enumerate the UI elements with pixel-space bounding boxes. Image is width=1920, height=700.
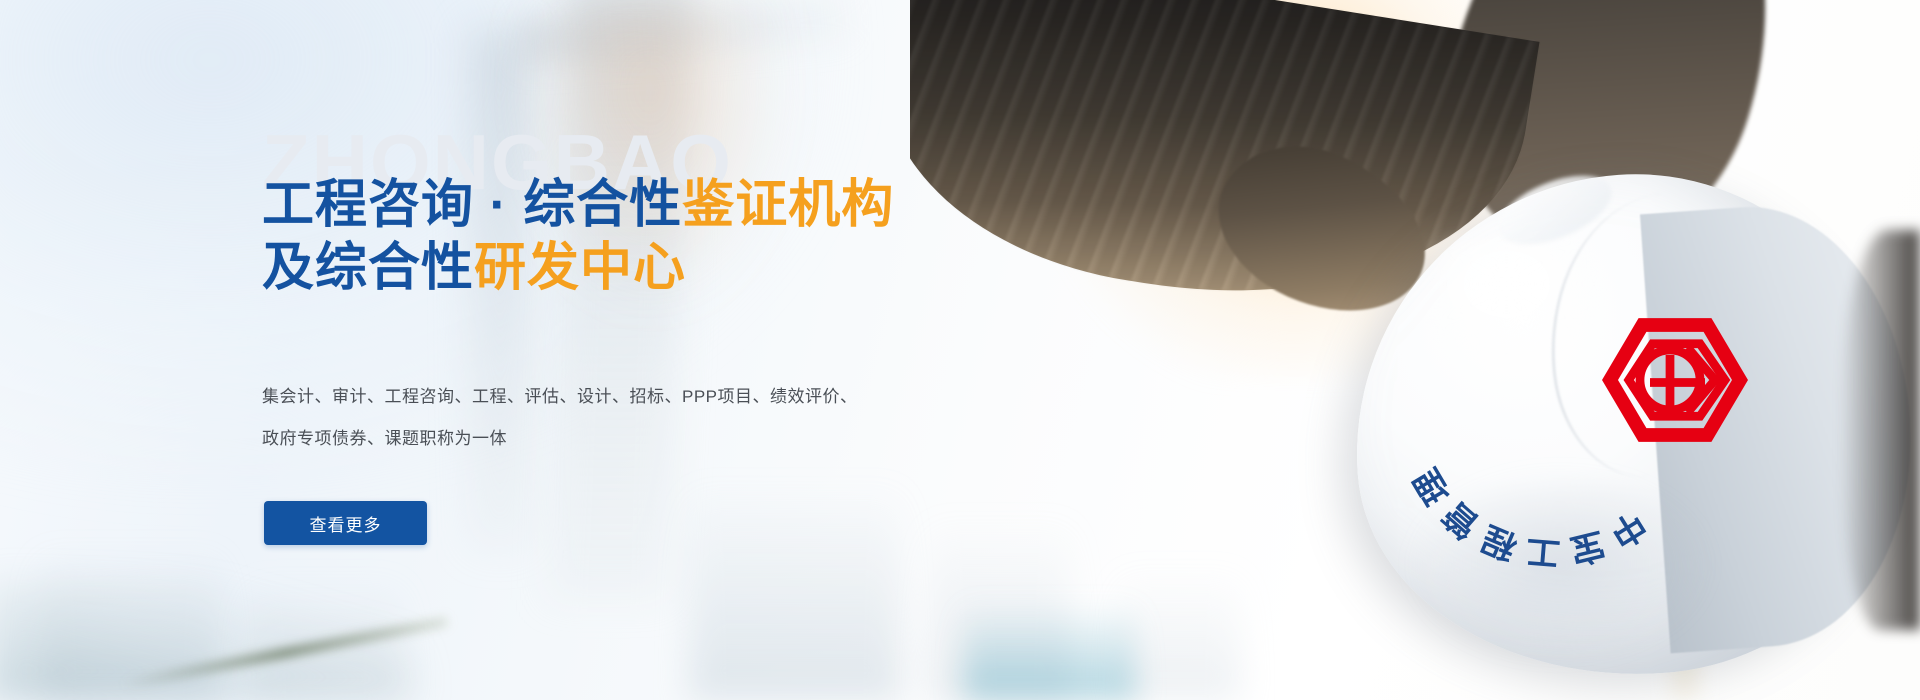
hero-subtitle: 集会计、审计、工程咨询、工程、评估、设计、招标、PPP项目、绩效评价、 政府专项… <box>262 376 982 459</box>
zhongbao-hexagon-logo <box>1600 305 1750 455</box>
subtitle-line-2: 政府专项债券、课题职称为一体 <box>262 418 982 460</box>
headline-line-1: 工程咨询 · 综合性鉴证机构 <box>262 178 894 233</box>
headline-line-1-primary: 工程咨询 · 综合性 <box>262 176 682 234</box>
hand-holding-hardhat-photo: 中宝工程管理 <box>910 0 1920 700</box>
headline-line-1-accent: 鉴证机构 <box>682 176 894 234</box>
headline-line-2: 及综合性研发中心 <box>262 241 894 296</box>
headline-line-2-accent: 研发中心 <box>474 239 686 297</box>
headline-line-2-primary: 及综合性 <box>262 239 474 297</box>
subtitle-line-1: 集会计、审计、工程咨询、工程、评估、设计、招标、PPP项目、绩效评价、 <box>262 376 982 418</box>
hero-banner: 中宝工程管理 ZHONGBAO 工程咨询 · 综合性鉴证机构 及综合性研发中心 <box>0 0 1920 700</box>
page-title: 工程咨询 · 综合性鉴证机构 及综合性研发中心 <box>262 178 894 304</box>
view-more-button[interactable]: 查看更多 <box>264 501 427 545</box>
hero-content: ZHONGBAO 工程咨询 · 综合性鉴证机构 及综合性研发中心 集会计、审计、… <box>0 0 1000 700</box>
